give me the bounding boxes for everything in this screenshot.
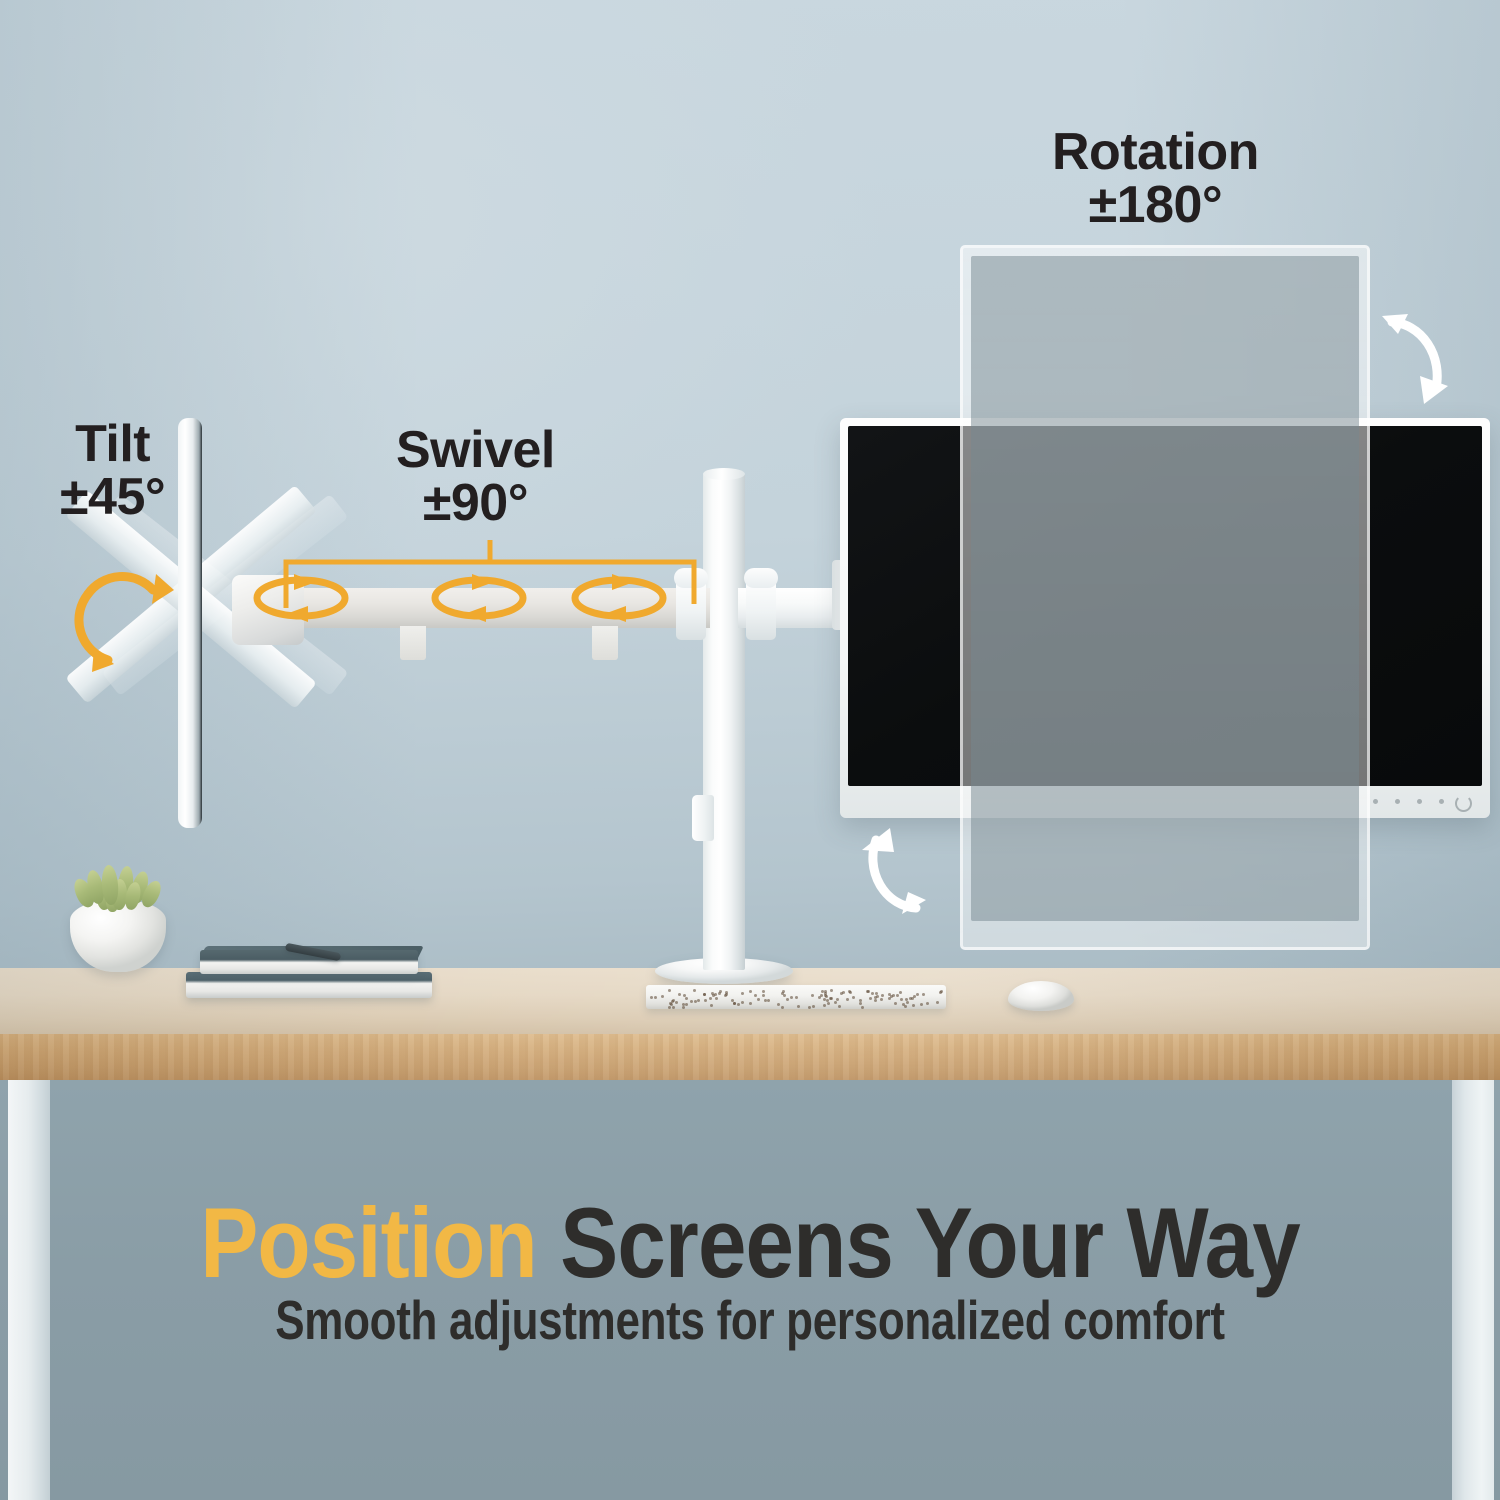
clamp-knob-right <box>744 568 778 588</box>
headline: Position Screens Your Way <box>90 1186 1410 1300</box>
keyboard-key <box>749 1002 752 1005</box>
swivel-ring-icon-1 <box>246 572 356 624</box>
rotation-arrow-icon-top <box>1374 304 1464 414</box>
keyboard-key <box>764 999 767 1002</box>
keyboard-key <box>859 999 862 1002</box>
succulent-leaves <box>74 862 164 910</box>
keyboard-key <box>911 997 914 1000</box>
keyboard-key <box>926 1002 929 1005</box>
keyboard-key <box>899 991 902 994</box>
tilt-title: Tilt <box>75 415 150 473</box>
product-feature-image: Tilt±45° Swivel±90° Rotation±180° Positi… <box>0 0 1500 1500</box>
keyboard-key <box>682 1003 685 1006</box>
keyboard-key <box>881 994 884 997</box>
swivel-ring-icon-3 <box>564 572 674 624</box>
keyboard-key <box>861 1006 864 1009</box>
keyboard-key <box>749 990 752 993</box>
tilt-callout-label: Tilt±45° <box>60 418 165 524</box>
keyboard-key <box>709 997 712 1000</box>
keyboard-key <box>697 999 700 1002</box>
keyboard-key <box>916 993 919 996</box>
keyboard-key <box>715 997 718 1000</box>
keyboard-key <box>836 998 839 1001</box>
keyboard-key <box>827 1002 830 1005</box>
keyboard-key <box>725 991 728 994</box>
keyboard-key <box>762 990 765 993</box>
monitor-control-dot-2[interactable] <box>1395 799 1400 804</box>
desk-leg-left <box>8 1080 50 1500</box>
keyboard-key <box>912 1004 915 1007</box>
keyboard-key <box>690 1000 693 1003</box>
keyboard-key <box>786 998 789 1001</box>
keyboard-key <box>846 998 849 1001</box>
desk-leg-right <box>1452 1080 1494 1500</box>
monitor-control-dot-3[interactable] <box>1417 799 1422 804</box>
monitor-control-dot-4[interactable] <box>1439 799 1444 804</box>
keyboard <box>646 985 946 1009</box>
keyboard-key <box>838 1005 841 1008</box>
cable-clip <box>692 795 714 841</box>
notebook-bottom <box>186 972 432 998</box>
power-button-icon[interactable] <box>1455 795 1472 812</box>
tilt-arrow-icon <box>58 552 188 682</box>
keyboard-key <box>741 992 744 995</box>
keyboard-key <box>913 995 916 998</box>
keyboard-key <box>714 993 717 996</box>
rotation-title: Rotation <box>1052 123 1259 181</box>
keyboard-key <box>795 996 798 999</box>
keyboard-key <box>703 993 706 996</box>
keyboard-key <box>669 1002 672 1005</box>
keyboard-key <box>888 997 891 1000</box>
mouse <box>1008 981 1074 1011</box>
keyboard-key <box>922 993 925 996</box>
keyboard-key <box>906 1001 909 1004</box>
keyboard-key <box>848 990 851 993</box>
keyboard-key <box>852 996 855 999</box>
keyboard-key <box>825 995 828 998</box>
keyboard-key <box>737 1003 740 1006</box>
keyboard-key <box>790 996 793 999</box>
arm-tab-1 <box>400 626 426 660</box>
keyboard-key <box>678 993 681 996</box>
keyboard-key <box>661 995 664 998</box>
keyboard-key <box>650 996 653 999</box>
headline-rest: Screens Your Way <box>537 1187 1300 1298</box>
keyboard-key <box>668 989 671 992</box>
keyboard-key <box>777 1003 780 1006</box>
monitor-control-dot-1[interactable] <box>1373 799 1378 804</box>
keyboard-key <box>781 992 784 995</box>
rotated-monitor-ghost <box>960 245 1370 950</box>
keyboard-key <box>880 998 883 1001</box>
keyboard-key <box>808 1006 811 1009</box>
keyboard-key <box>812 1005 815 1008</box>
keyboard-key <box>859 1002 862 1005</box>
keyboard-key <box>733 1002 736 1005</box>
rotation-arrow-icon-bottom <box>848 824 938 924</box>
tilt-value: ±45° <box>60 468 165 526</box>
keyboard-key <box>741 1001 744 1004</box>
keyboard-key <box>731 999 734 1002</box>
rotation-value: ±180° <box>1089 176 1223 234</box>
keyboard-key <box>867 990 870 993</box>
swivel-callout-label: Swivel±90° <box>396 424 555 530</box>
keyboard-key <box>710 1004 713 1007</box>
keyboard-key <box>767 999 770 1002</box>
keyboard-key <box>754 994 757 997</box>
keyboard-key <box>920 1003 923 1006</box>
swivel-value: ±90° <box>423 474 528 532</box>
keyboard-key <box>902 1003 905 1006</box>
keyboard-key <box>718 992 721 995</box>
keyboard-key <box>830 989 833 992</box>
keyboard-key <box>811 994 814 997</box>
headline-accent-word: Position <box>200 1187 537 1298</box>
keyboard-key <box>693 989 696 992</box>
keyboard-key <box>781 1006 784 1009</box>
rotated-monitor-ghost-screen <box>971 256 1359 921</box>
keyboard-key <box>869 997 872 1000</box>
keyboard-key <box>823 998 826 1001</box>
mount-pole <box>703 470 745 970</box>
keyboard-key <box>797 1005 800 1008</box>
keyboard-key <box>874 999 877 1002</box>
keyboard-key <box>672 1006 675 1009</box>
keyboard-key <box>704 999 707 1002</box>
swivel-ring-icon-2 <box>424 572 534 624</box>
keyboard-key <box>829 997 832 1000</box>
keyboard-key <box>894 1002 897 1005</box>
keyboard-key <box>871 992 874 995</box>
keyboard-key <box>682 1006 685 1009</box>
keyboard-key <box>685 997 688 1000</box>
keyboard-key <box>900 998 903 1001</box>
rotation-callout-label: Rotation±180° <box>1052 126 1259 232</box>
mount-pole-cap <box>703 468 745 480</box>
arm-tab-2 <box>592 626 618 660</box>
keyboard-key <box>672 999 675 1002</box>
keyboard-key <box>762 994 765 997</box>
keyboard-key <box>685 1003 688 1006</box>
keyboard-key <box>876 995 879 998</box>
keyboard-key <box>820 994 823 997</box>
keyboard-key <box>842 991 845 994</box>
swivel-title: Swivel <box>396 421 555 479</box>
keyboard-key <box>654 996 657 999</box>
subheadline: Smooth adjustments for personalized comf… <box>150 1288 1350 1352</box>
keyboard-key <box>675 1001 678 1004</box>
keyboard-key <box>939 991 942 994</box>
keyboard-key <box>757 998 760 1001</box>
keyboard-key <box>896 994 899 997</box>
keyboard-key <box>823 1004 826 1007</box>
desk-edge-band <box>0 1034 1500 1080</box>
keyboard-key <box>668 1006 671 1009</box>
keyboard-key <box>936 1001 939 1004</box>
